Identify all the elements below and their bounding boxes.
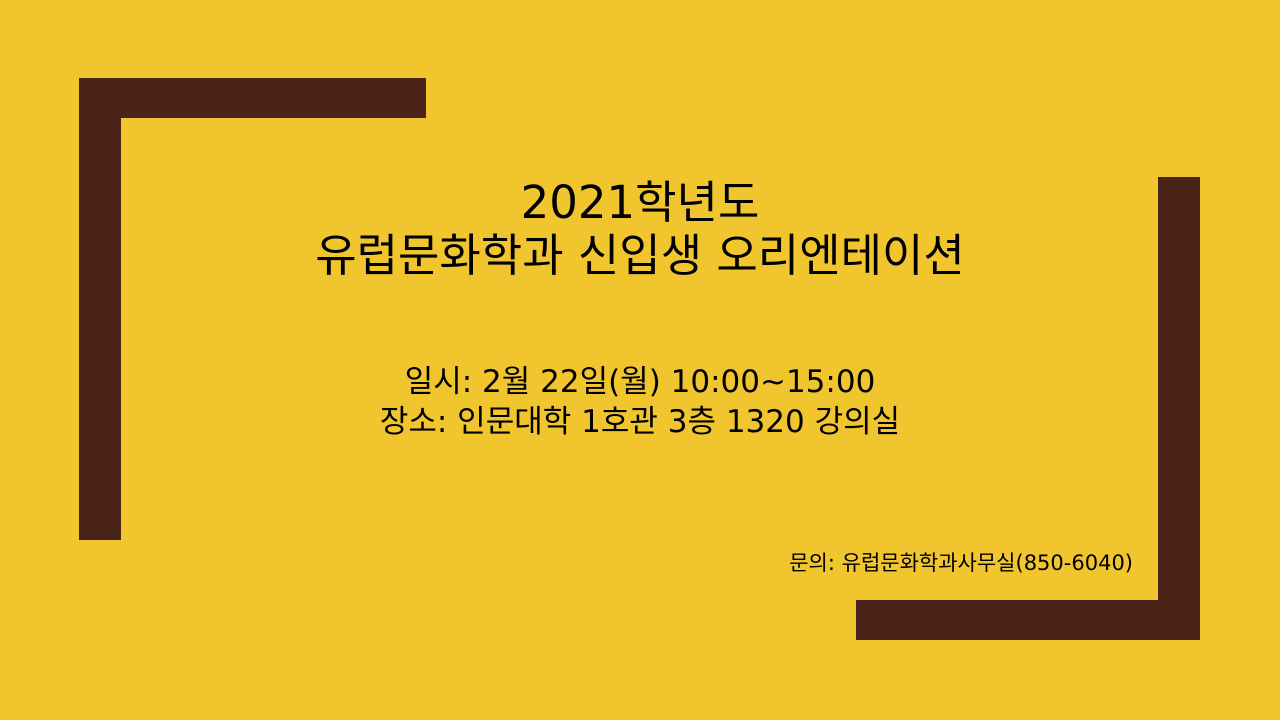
poster-title: 2021학년도 유럽문화학과 신입생 오리엔테이션 <box>0 176 1280 282</box>
event-location-line: 장소: 인문대학 1호관 3층 1320 강의실 <box>0 402 1280 442</box>
contact-office-line: 문의: 유럽문화학과사무실(850-6040) <box>789 547 1133 577</box>
poster-title-line-2: 유럽문화학과 신입생 오리엔테이션 <box>0 229 1280 282</box>
poster-contact: 문의: 유럽문화학과사무실(850-6040) <box>0 547 1133 577</box>
poster-canvas: 2021학년도 유럽문화학과 신입생 오리엔테이션 일시: 2월 22일(월) … <box>0 0 1280 720</box>
poster-details: 일시: 2월 22일(월) 10:00~15:00 장소: 인문대학 1호관 3… <box>0 362 1280 443</box>
poster-title-line-1: 2021학년도 <box>0 176 1280 229</box>
event-datetime-line: 일시: 2월 22일(월) 10:00~15:00 <box>0 362 1280 402</box>
poster-text-layer: 2021학년도 유럽문화학과 신입생 오리엔테이션 일시: 2월 22일(월) … <box>0 0 1280 720</box>
